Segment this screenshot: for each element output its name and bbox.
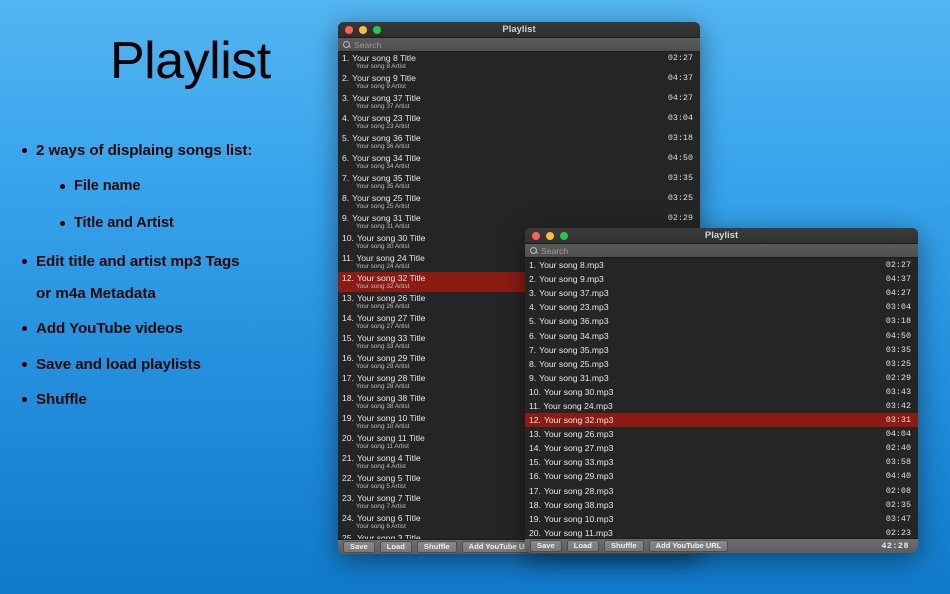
song-row[interactable]: 3.Your song 37.mp304:27 (525, 286, 918, 300)
page-title: Playlist (110, 31, 271, 91)
song-duration: 03:35 (886, 345, 911, 355)
feature-bullet-label: 2 ways of displaing songs list: (36, 140, 252, 162)
song-row-main: 5.Your song 36 Title (342, 133, 693, 143)
song-filename: Your song 9.mp3 (539, 274, 604, 284)
song-index: 6. (529, 331, 536, 341)
song-filename: Your song 35.mp3 (539, 345, 608, 355)
song-title: Your song 34 Title (352, 153, 420, 163)
bullet-dot-icon (22, 148, 27, 153)
song-duration: 04:40 (886, 471, 911, 481)
feature-bullet: Shuffle (22, 389, 340, 411)
song-index: 7. (529, 345, 536, 355)
song-title: Your song 28 Title (357, 373, 425, 383)
save-button[interactable]: Save (530, 540, 562, 552)
feature-bullet-list: 2 ways of displaing songs list:File name… (22, 140, 340, 425)
shuffle-button[interactable]: Shuffle (417, 541, 457, 553)
search-icon (343, 41, 350, 48)
load-button[interactable]: Load (380, 541, 412, 553)
song-filename: Your song 36.mp3 (539, 316, 608, 326)
song-row[interactable]: 18.Your song 38.mp302:35 (525, 498, 918, 512)
bullet-dot-icon (60, 184, 65, 189)
song-row[interactable]: 3.Your song 37 TitleYour song 37 Artist0… (338, 92, 700, 112)
song-title: Your song 10 Title (357, 413, 425, 423)
song-index: 13. (342, 293, 354, 303)
feature-bullet-label: Title and Artist (74, 213, 174, 234)
song-index: 5. (342, 133, 349, 143)
song-index: 23. (342, 493, 354, 503)
song-duration: 04:50 (668, 153, 693, 163)
song-index: 14. (342, 313, 354, 323)
song-index: 21. (342, 453, 354, 463)
song-duration: 04:50 (886, 331, 911, 341)
song-title: Your song 11 Title (357, 433, 425, 443)
song-index: 13. (529, 429, 541, 439)
song-title: Your song 35 Title (352, 173, 420, 183)
song-index: 15. (529, 457, 541, 467)
song-filename: Your song 27.mp3 (544, 443, 613, 453)
song-index: 11. (342, 253, 353, 263)
song-duration: 03:58 (886, 457, 911, 467)
song-title: Your song 32 Title (357, 273, 425, 283)
song-filename: Your song 25.mp3 (539, 359, 608, 369)
song-row[interactable]: 6.Your song 34 TitleYour song 34 Artist0… (338, 152, 700, 172)
song-duration: 04:37 (886, 274, 911, 284)
song-duration: 03:25 (886, 359, 911, 369)
song-duration: 03:43 (886, 387, 911, 397)
song-duration: 02:08 (886, 486, 911, 496)
song-artist: Your song 25 Artist (342, 203, 693, 210)
feature-bullet-label: Shuffle (36, 389, 87, 411)
song-index: 20. (529, 528, 541, 538)
song-index: 15. (342, 333, 354, 343)
song-index: 9. (529, 373, 536, 383)
song-index: 1. (342, 53, 349, 63)
song-row[interactable]: 17.Your song 28.mp302:08 (525, 484, 918, 498)
song-filename: Your song 30.mp3 (544, 387, 613, 397)
song-row[interactable]: 16.Your song 29.mp304:40 (525, 469, 918, 483)
playlist-window-filename[interactable]: Playlist Search 1.Your song 8.mp302:272.… (525, 228, 918, 553)
song-filename: Your song 8.mp3 (539, 260, 604, 270)
search-bar[interactable]: Search (525, 244, 918, 258)
feature-bullet: 2 ways of displaing songs list: (22, 140, 340, 162)
song-duration: 03:18 (886, 316, 911, 326)
song-title: Your song 4 Title (357, 453, 421, 463)
song-title: Your song 23 Title (352, 113, 420, 123)
song-row[interactable]: 10.Your song 30.mp303:43 (525, 385, 918, 399)
song-index: 12. (529, 415, 541, 425)
song-duration: 02:29 (886, 373, 911, 383)
feature-bullet: Edit title and artist mp3 Tags (22, 251, 340, 273)
song-index: 5. (529, 316, 536, 326)
song-duration: 03:25 (668, 193, 693, 203)
song-artist: Your song 8 Artist (342, 63, 693, 70)
song-index: 19. (342, 413, 354, 423)
song-title: Your song 30 Title (357, 233, 425, 243)
bullet-dot-icon (60, 221, 65, 226)
song-row[interactable]: 6.Your song 34.mp304:50 (525, 328, 918, 342)
total-duration: 42:28 (881, 541, 913, 551)
song-title: Your song 33 Title (357, 333, 425, 343)
song-row[interactable]: 8.Your song 25 TitleYour song 25 Artist0… (338, 192, 700, 212)
song-title: Your song 8 Title (352, 53, 416, 63)
song-index: 10. (342, 233, 354, 243)
song-row[interactable]: 7.Your song 35.mp303:35 (525, 343, 918, 357)
song-title: Your song 26 Title (357, 293, 425, 303)
song-index: 16. (529, 471, 541, 481)
window-title: Playlist (525, 230, 918, 241)
song-duration: 03:47 (886, 514, 911, 524)
song-filename: Your song 31.mp3 (539, 373, 608, 383)
song-row[interactable]: 12.Your song 32.mp303:31 (525, 413, 918, 427)
song-index: 24. (342, 513, 354, 523)
song-row-main: 1.Your song 8 Title (342, 53, 693, 63)
song-row[interactable]: 5.Your song 36.mp303:18 (525, 314, 918, 328)
song-row[interactable]: 15.Your song 33.mp303:58 (525, 455, 918, 469)
song-index: 22. (342, 473, 354, 483)
song-row[interactable]: 4.Your song 23.mp303:04 (525, 300, 918, 314)
window-title: Playlist (338, 24, 700, 35)
song-index: 6. (342, 153, 349, 163)
song-row[interactable]: 14.Your song 27.mp302:40 (525, 441, 918, 455)
song-row[interactable]: 2.Your song 9.mp304:37 (525, 272, 918, 286)
song-row[interactable]: 13.Your song 26.mp304:04 (525, 427, 918, 441)
shuffle-button[interactable]: Shuffle (604, 540, 644, 552)
song-filename: Your song 29.mp3 (544, 471, 613, 481)
song-filename: Your song 38.mp3 (544, 500, 613, 510)
song-duration: 03:04 (668, 113, 693, 123)
search-bar[interactable]: Search (338, 38, 700, 52)
song-duration: 04:37 (668, 73, 693, 83)
song-duration: 04:27 (668, 93, 693, 103)
feature-bullet-continuation: or m4a Metadata (22, 283, 340, 305)
song-index: 2. (342, 73, 349, 83)
song-title: Your song 9 Title (352, 73, 416, 83)
song-row[interactable]: 11.Your song 24.mp303:42 (525, 399, 918, 413)
song-index: 8. (529, 359, 536, 369)
song-row-main: 8.Your song 25 Title (342, 193, 693, 203)
song-filename: Your song 37.mp3 (539, 288, 608, 298)
search-input[interactable]: Search (354, 40, 381, 50)
window-titlebar[interactable]: Playlist (338, 22, 700, 38)
song-index: 8. (342, 193, 349, 203)
song-artist: Your song 36 Artist (342, 143, 693, 150)
song-filename: Your song 28.mp3 (544, 486, 613, 496)
song-artist: Your song 23 Artist (342, 123, 693, 130)
song-index: 18. (529, 500, 541, 510)
search-input[interactable]: Search (541, 246, 568, 256)
song-list[interactable]: 1.Your song 8.mp302:272.Your song 9.mp30… (525, 258, 918, 538)
song-row[interactable]: 8.Your song 25.mp303:25 (525, 357, 918, 371)
song-title: Your song 37 Title (352, 93, 420, 103)
song-duration: 03:18 (668, 133, 693, 143)
song-index: 1. (529, 260, 536, 270)
song-row-main: 3.Your song 37 Title (342, 93, 693, 103)
song-filename: Your song 10.mp3 (544, 514, 613, 524)
song-row[interactable]: 9.Your song 31.mp302:29 (525, 371, 918, 385)
bullet-dot-icon (22, 397, 27, 402)
song-index: 17. (342, 373, 354, 383)
song-index: 3. (529, 288, 536, 298)
song-index: 4. (529, 302, 536, 312)
song-duration: 02:27 (886, 260, 911, 270)
song-index: 18. (342, 393, 354, 403)
bullet-dot-icon (22, 326, 27, 331)
song-index: 11. (529, 401, 540, 411)
song-title: Your song 25 Title (352, 193, 420, 203)
song-duration: 03:31 (886, 415, 911, 425)
song-duration: 04:27 (886, 288, 911, 298)
song-row[interactable]: 5.Your song 36 TitleYour song 36 Artist0… (338, 132, 700, 152)
song-filename: Your song 11.mp3 (544, 528, 613, 538)
feature-bullet: Add YouTube videos (22, 318, 340, 340)
song-filename: Your song 34.mp3 (539, 331, 608, 341)
song-title: Your song 7 Title (357, 493, 421, 503)
add-youtube-url-button[interactable]: Add YouTube URL (649, 540, 729, 552)
song-title: Your song 38 Title (357, 393, 425, 403)
song-title: Your song 24 Title (356, 253, 424, 263)
song-artist: Your song 9 Artist (342, 83, 693, 90)
save-button[interactable]: Save (343, 541, 375, 553)
feature-bullet: Title and Artist (22, 213, 340, 234)
song-row[interactable]: 1.Your song 8.mp302:27 (525, 258, 918, 272)
song-index: 12. (342, 273, 354, 283)
song-filename: Your song 24.mp3 (543, 401, 612, 411)
song-title: Your song 5 Title (357, 473, 421, 483)
song-row[interactable]: 20.Your song 11.mp302:23 (525, 526, 918, 538)
feature-bullet: File name (22, 176, 340, 197)
feature-bullet-label: Add YouTube videos (36, 318, 183, 340)
feature-bullet: Save and load playlists (22, 354, 340, 376)
song-index: 17. (529, 486, 541, 496)
song-duration: 02:40 (886, 443, 911, 453)
song-index: 10. (529, 387, 541, 397)
bullet-dot-icon (22, 362, 27, 367)
song-row[interactable]: 4.Your song 23 TitleYour song 23 Artist0… (338, 112, 700, 132)
song-index: 20. (342, 433, 354, 443)
bottom-toolbar[interactable]: Save Load Shuffle Add YouTube URL 42:28 (525, 538, 918, 553)
song-row[interactable]: 19.Your song 10.mp303:47 (525, 512, 918, 526)
song-filename: Your song 26.mp3 (544, 429, 613, 439)
song-index: 14. (529, 443, 541, 453)
song-index: 16. (342, 353, 354, 363)
song-title: Your song 31 Title (352, 213, 420, 223)
song-row-main: 4.Your song 23 Title (342, 113, 693, 123)
song-title: Your song 6 Title (357, 513, 421, 523)
song-duration: 03:35 (668, 173, 693, 183)
load-button[interactable]: Load (567, 540, 599, 552)
song-index: 3. (342, 93, 349, 103)
song-duration: 02:35 (886, 500, 911, 510)
song-title: Your song 29 Title (357, 353, 425, 363)
window-titlebar[interactable]: Playlist (525, 228, 918, 244)
feature-bullet-label: File name (74, 176, 140, 197)
song-index: 2. (529, 274, 536, 284)
song-duration: 03:42 (886, 401, 911, 411)
bullet-dot-icon (22, 259, 27, 264)
feature-bullet-label: Save and load playlists (36, 354, 201, 376)
song-index: 9. (342, 213, 349, 223)
search-icon (530, 247, 537, 254)
song-index: 4. (342, 113, 349, 123)
song-duration: 04:04 (886, 429, 911, 439)
song-row[interactable]: 7.Your song 35 TitleYour song 35 Artist0… (338, 172, 700, 192)
song-row[interactable]: 2.Your song 9 TitleYour song 9 Artist04:… (338, 72, 700, 92)
song-row-main: 7.Your song 35 Title (342, 173, 693, 183)
song-index: 7. (342, 173, 349, 183)
song-filename: Your song 32.mp3 (544, 415, 613, 425)
song-row[interactable]: 1.Your song 8 TitleYour song 8 Artist02:… (338, 52, 700, 72)
song-artist: Your song 35 Artist (342, 183, 693, 190)
song-duration: 02:29 (668, 213, 693, 223)
song-duration: 02:23 (886, 528, 911, 538)
song-duration: 03:04 (886, 302, 911, 312)
song-artist: Your song 34 Artist (342, 163, 693, 170)
feature-bullet-label: Edit title and artist mp3 Tags (36, 251, 239, 273)
song-artist: Your song 37 Artist (342, 103, 693, 110)
song-index: 19. (529, 514, 541, 524)
song-row-main: 6.Your song 34 Title (342, 153, 693, 163)
song-filename: Your song 23.mp3 (539, 302, 608, 312)
promo-panel: Playlist 2 ways of displaing songs list:… (0, 0, 340, 594)
song-duration: 02:27 (668, 53, 693, 63)
song-row-main: 2.Your song 9 Title (342, 73, 693, 83)
song-filename: Your song 33.mp3 (544, 457, 613, 467)
song-title: Your song 27 Title (357, 313, 425, 323)
song-row-main: 9.Your song 31 Title (342, 213, 693, 223)
song-title: Your song 36 Title (352, 133, 420, 143)
